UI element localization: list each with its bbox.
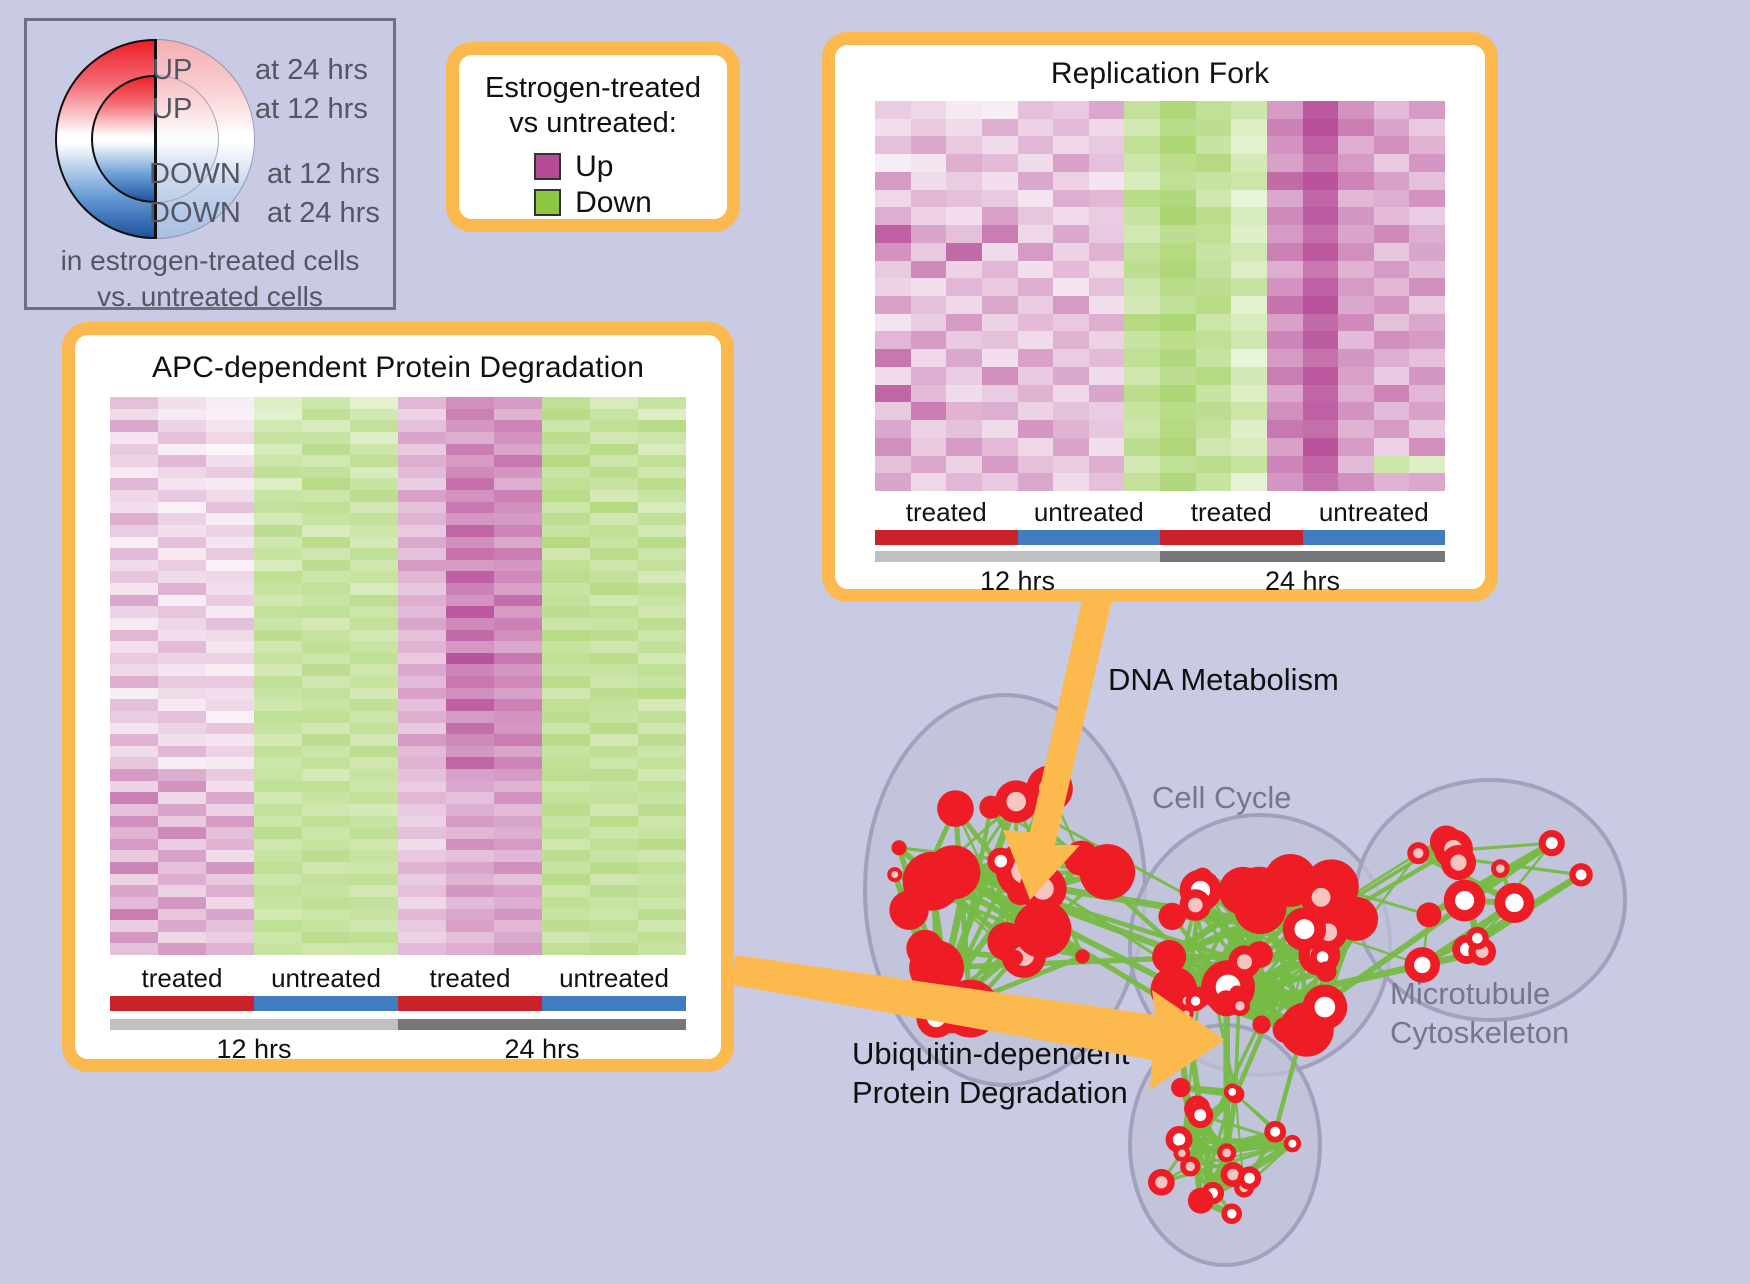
heatmap-cell bbox=[875, 136, 911, 154]
heatmap-cell bbox=[398, 595, 446, 607]
heatmap-cell bbox=[946, 385, 982, 403]
heatmap-cell bbox=[638, 699, 686, 711]
heatmap-cell bbox=[1089, 296, 1125, 314]
heatmap-cell bbox=[1303, 278, 1339, 296]
heatmap-time-label: 24 hrs bbox=[398, 1034, 686, 1065]
heatmap-cell bbox=[1267, 243, 1303, 261]
heatmap-cell bbox=[1124, 261, 1160, 279]
heatmap-cell bbox=[946, 101, 982, 119]
network-node[interactable] bbox=[1316, 961, 1337, 982]
heatmap-cell bbox=[1018, 367, 1054, 385]
heatmap-group-label: treated bbox=[398, 963, 542, 994]
heatmap-cell bbox=[1196, 261, 1232, 279]
heatmap-cell bbox=[398, 746, 446, 758]
heatmap-cell bbox=[1338, 172, 1374, 190]
heatmap-cell bbox=[590, 420, 638, 432]
heatmap-cell bbox=[542, 641, 590, 653]
heatmap-cell bbox=[1409, 101, 1445, 119]
heatmap-cell bbox=[1124, 278, 1160, 296]
heatmap-cell bbox=[254, 444, 302, 456]
network-node-core bbox=[1270, 1127, 1280, 1137]
legend-label-up: Up bbox=[575, 150, 613, 184]
heatmap-cell bbox=[1089, 190, 1125, 208]
heatmap-cell bbox=[254, 897, 302, 909]
heatmap-cell bbox=[1089, 243, 1125, 261]
heatmap-cell bbox=[1089, 473, 1125, 491]
heatmap-cell bbox=[494, 490, 542, 502]
network-node-core bbox=[1228, 1088, 1236, 1096]
heatmap-cell bbox=[1409, 456, 1445, 474]
heatmap-cell bbox=[446, 804, 494, 816]
heatmap-cell bbox=[1124, 331, 1160, 349]
apc-degradation-heatmap bbox=[110, 397, 686, 955]
heatmap-cell bbox=[494, 769, 542, 781]
heatmap-cell bbox=[638, 723, 686, 735]
heatmap-cell bbox=[638, 432, 686, 444]
heatmap-cell bbox=[542, 734, 590, 746]
heatmap-cell bbox=[1303, 136, 1339, 154]
heatmap-cell bbox=[1089, 456, 1125, 474]
heatmap-cell bbox=[590, 409, 638, 421]
heatmap-cell bbox=[1196, 456, 1232, 474]
heatmap-cell bbox=[1374, 207, 1410, 225]
network-node[interactable] bbox=[906, 930, 943, 967]
heatmap-cell bbox=[398, 850, 446, 862]
heatmap-cell bbox=[110, 502, 158, 514]
heatmap-cell bbox=[911, 136, 947, 154]
network-node[interactable] bbox=[1416, 902, 1441, 927]
heatmap-cell bbox=[110, 432, 158, 444]
heatmap-cell bbox=[1018, 296, 1054, 314]
heatmap-cell bbox=[158, 478, 206, 490]
heatmap-cell bbox=[875, 473, 911, 491]
heatmap-cell bbox=[875, 385, 911, 403]
heatmap-cell bbox=[1160, 456, 1196, 474]
heatmap-cell bbox=[206, 769, 254, 781]
heatmap-cell bbox=[110, 769, 158, 781]
condition-color-bar bbox=[1018, 530, 1161, 545]
heatmap-cell bbox=[1374, 367, 1410, 385]
heatmap-cell bbox=[206, 490, 254, 502]
heatmap-cell bbox=[302, 653, 350, 665]
heatmap-cell bbox=[302, 920, 350, 932]
network-node[interactable] bbox=[979, 796, 1002, 819]
heatmap-cell bbox=[350, 455, 398, 467]
heatmap-group-label: treated bbox=[1160, 497, 1303, 528]
heatmap-cell bbox=[302, 537, 350, 549]
heatmap-cell bbox=[398, 490, 446, 502]
heatmap-cell bbox=[638, 676, 686, 688]
heatmap-cell bbox=[946, 473, 982, 491]
heatmap-cell bbox=[110, 618, 158, 630]
apc-degradation-title: APC-dependent Protein Degradation bbox=[75, 335, 721, 385]
heatmap-cell bbox=[590, 862, 638, 874]
heatmap-cell bbox=[1089, 172, 1125, 190]
heatmap-cell bbox=[254, 560, 302, 572]
network-node-core bbox=[1155, 1176, 1167, 1188]
heatmap-cell bbox=[1231, 190, 1267, 208]
legend-gradient-circles: UP at 24 hrs UP at 12 hrs DOWN at 12 hrs… bbox=[24, 18, 396, 310]
heatmap-cell bbox=[158, 467, 206, 479]
heatmap-cell bbox=[1338, 136, 1374, 154]
heatmap-cell bbox=[1160, 402, 1196, 420]
heatmap-cell bbox=[638, 897, 686, 909]
heatmap-cell bbox=[398, 502, 446, 514]
network-node[interactable] bbox=[1007, 950, 1023, 966]
heatmap-cell bbox=[1267, 473, 1303, 491]
heatmap-cell bbox=[1053, 385, 1089, 403]
heatmap-cell bbox=[254, 757, 302, 769]
heatmap-cell bbox=[494, 885, 542, 897]
heatmap-cell bbox=[1338, 296, 1374, 314]
heatmap-cell bbox=[494, 874, 542, 886]
heatmap-cell bbox=[302, 932, 350, 944]
heatmap-cell bbox=[398, 513, 446, 525]
heatmap-cell bbox=[946, 349, 982, 367]
heatmap-cell bbox=[1303, 243, 1339, 261]
heatmap-cell bbox=[254, 606, 302, 618]
network-node[interactable] bbox=[903, 852, 962, 911]
heatmap-cell bbox=[110, 397, 158, 409]
heatmap-cell bbox=[446, 432, 494, 444]
heatmap-cell bbox=[1267, 296, 1303, 314]
heatmap-cell bbox=[398, 444, 446, 456]
network-node-core bbox=[1244, 1173, 1255, 1184]
heatmap-cell bbox=[110, 571, 158, 583]
heatmap-cell bbox=[1196, 296, 1232, 314]
heatmap-cell bbox=[206, 676, 254, 688]
heatmap-cell bbox=[542, 874, 590, 886]
microtubule-label-line1: Microtubule bbox=[1390, 975, 1569, 1014]
heatmap-cell bbox=[1409, 349, 1445, 367]
heatmap-cell bbox=[1409, 314, 1445, 332]
heatmap-cell bbox=[1089, 349, 1125, 367]
heatmap-cell bbox=[590, 606, 638, 618]
heatmap-cell bbox=[638, 769, 686, 781]
heatmap-cell bbox=[1018, 119, 1054, 137]
heatmap-cell bbox=[1374, 456, 1410, 474]
heatmap-cell bbox=[494, 943, 542, 955]
heatmap-cell bbox=[350, 653, 398, 665]
heatmap-cell bbox=[1374, 314, 1410, 332]
heatmap-cell bbox=[542, 513, 590, 525]
heatmap-cell bbox=[1338, 261, 1374, 279]
heatmap-cell bbox=[638, 478, 686, 490]
heatmap-cell bbox=[590, 537, 638, 549]
heatmap-cell bbox=[302, 676, 350, 688]
heatmap-cell bbox=[911, 367, 947, 385]
heatmap-cell bbox=[398, 909, 446, 921]
heatmap-cell bbox=[398, 897, 446, 909]
ubiquitin-label-line2: Protein Degradation bbox=[852, 1074, 1130, 1113]
heatmap-cell bbox=[350, 711, 398, 723]
heatmap-cell bbox=[542, 850, 590, 862]
heatmap-cell bbox=[206, 688, 254, 700]
cluster-label-ubiquitin-degradation: Ubiquitin-dependent Protein Degradation bbox=[852, 1035, 1130, 1113]
heatmap-cell bbox=[875, 331, 911, 349]
network-node[interactable] bbox=[1252, 1015, 1270, 1033]
heatmap-cell bbox=[1374, 261, 1410, 279]
heatmap-cell bbox=[494, 734, 542, 746]
heatmap-cell bbox=[302, 688, 350, 700]
heatmap-cell bbox=[911, 101, 947, 119]
heatmap-cell bbox=[494, 932, 542, 944]
heatmap-cell bbox=[1053, 154, 1089, 172]
heatmap-cell bbox=[1053, 420, 1089, 438]
heatmap-cell bbox=[494, 711, 542, 723]
heatmap-cell bbox=[158, 769, 206, 781]
heatmap-cell bbox=[1303, 190, 1339, 208]
time-color-bar bbox=[110, 1019, 398, 1030]
network-node-core bbox=[1191, 996, 1200, 1005]
heatmap-cell bbox=[1124, 101, 1160, 119]
heatmap-cell bbox=[350, 420, 398, 432]
legend-note: in estrogen-treated cells vs. untreated … bbox=[27, 243, 393, 315]
heatmap-cell bbox=[638, 502, 686, 514]
heatmap-cell bbox=[1303, 314, 1339, 332]
heatmap-cell bbox=[158, 537, 206, 549]
heatmap-cell bbox=[158, 932, 206, 944]
heatmap-cell bbox=[590, 548, 638, 560]
heatmap-cell bbox=[1196, 420, 1232, 438]
heatmap-cell bbox=[158, 734, 206, 746]
heatmap-cell bbox=[1089, 225, 1125, 243]
network-node-core bbox=[1032, 878, 1054, 900]
heatmap-cell bbox=[110, 850, 158, 862]
heatmap-cell bbox=[1409, 225, 1445, 243]
condition-color-bar bbox=[254, 996, 398, 1011]
heatmap-cell bbox=[1231, 278, 1267, 296]
heatmap-cell bbox=[911, 278, 947, 296]
heatmap-cell bbox=[1053, 296, 1089, 314]
heatmap-cell bbox=[542, 548, 590, 560]
heatmap-cell bbox=[946, 136, 982, 154]
heatmap-cell bbox=[350, 816, 398, 828]
heatmap-cell bbox=[110, 897, 158, 909]
heatmap-cell bbox=[590, 595, 638, 607]
heatmap-cell bbox=[1338, 154, 1374, 172]
heatmap-cell bbox=[1089, 331, 1125, 349]
heatmap-cell bbox=[1018, 349, 1054, 367]
heatmap-cell bbox=[398, 723, 446, 735]
heatmap-cell bbox=[1196, 243, 1232, 261]
heatmap-cell bbox=[158, 885, 206, 897]
heatmap-cell bbox=[638, 757, 686, 769]
heatmap-cell bbox=[638, 932, 686, 944]
heatmap-cell bbox=[1374, 136, 1410, 154]
heatmap-cell bbox=[1053, 473, 1089, 491]
heatmap-cell bbox=[254, 862, 302, 874]
heatmap-cell bbox=[350, 444, 398, 456]
heatmap-cell bbox=[982, 296, 1018, 314]
heatmap-cell bbox=[982, 456, 1018, 474]
heatmap-cell bbox=[911, 261, 947, 279]
heatmap-cell bbox=[1124, 172, 1160, 190]
heatmap-cell bbox=[158, 641, 206, 653]
heatmap-cell bbox=[494, 432, 542, 444]
heatmap-cell bbox=[446, 525, 494, 537]
heatmap-cell bbox=[1053, 190, 1089, 208]
network-node-core bbox=[1227, 1209, 1237, 1219]
heatmap-cell bbox=[110, 723, 158, 735]
heatmap-cell bbox=[494, 676, 542, 688]
heatmap-cell bbox=[206, 850, 254, 862]
heatmap-cell bbox=[254, 490, 302, 502]
network-node[interactable] bbox=[1158, 903, 1185, 930]
heatmap-cell bbox=[1089, 261, 1125, 279]
heatmap-cell bbox=[542, 583, 590, 595]
heatmap-cell bbox=[1089, 154, 1125, 172]
heatmap-cell bbox=[302, 862, 350, 874]
heatmap-cell bbox=[590, 769, 638, 781]
heatmap-cell bbox=[638, 792, 686, 804]
heatmap-cell bbox=[638, 606, 686, 618]
heatmap-cell bbox=[206, 618, 254, 630]
heatmap-cell bbox=[1338, 438, 1374, 456]
heatmap-cell bbox=[206, 792, 254, 804]
heatmap-cell bbox=[875, 402, 911, 420]
heatmap-cell bbox=[350, 606, 398, 618]
heatmap-cell bbox=[1160, 172, 1196, 190]
heatmap-cell bbox=[158, 490, 206, 502]
heatmap-cell bbox=[1338, 190, 1374, 208]
heatmap-cell bbox=[1160, 119, 1196, 137]
heatmap-cell bbox=[350, 467, 398, 479]
heatmap-cell bbox=[350, 781, 398, 793]
heatmap-cell bbox=[446, 943, 494, 955]
heatmap-cell bbox=[302, 630, 350, 642]
heatmap-cell bbox=[982, 278, 1018, 296]
heatmap-cell bbox=[350, 502, 398, 514]
heatmap-cell bbox=[158, 839, 206, 851]
heatmap-cell bbox=[254, 455, 302, 467]
heatmap-cell bbox=[446, 676, 494, 688]
heatmap-cell bbox=[1089, 136, 1125, 154]
heatmap-cell bbox=[494, 548, 542, 560]
heatmap-cell bbox=[254, 885, 302, 897]
heatmap-cell bbox=[542, 781, 590, 793]
heatmap-cell bbox=[206, 595, 254, 607]
heatmap-cell bbox=[590, 397, 638, 409]
heatmap-cell bbox=[350, 757, 398, 769]
heatmap-cell bbox=[946, 119, 982, 137]
heatmap-cell bbox=[542, 792, 590, 804]
heatmap-cell bbox=[542, 804, 590, 816]
legend-up-down-card: Estrogen-treated vs untreated: Up Down bbox=[446, 42, 740, 232]
heatmap-cell bbox=[1018, 473, 1054, 491]
network-node-core bbox=[1288, 1140, 1296, 1148]
heatmap-cell bbox=[1089, 119, 1125, 137]
heatmap-cell bbox=[446, 583, 494, 595]
heatmap-cell bbox=[398, 781, 446, 793]
heatmap-cell bbox=[110, 548, 158, 560]
replication-fork-card: Replication Fork treateduntreatedtreated… bbox=[822, 32, 1498, 602]
heatmap-cell bbox=[1231, 154, 1267, 172]
heatmap-cell bbox=[542, 478, 590, 490]
heatmap-cell bbox=[542, 560, 590, 572]
heatmap-group-label: untreated bbox=[1018, 497, 1161, 528]
heatmap-cell bbox=[110, 641, 158, 653]
network-node[interactable] bbox=[1171, 1078, 1190, 1097]
heatmap-cell bbox=[1160, 243, 1196, 261]
heatmap-cell bbox=[158, 571, 206, 583]
heatmap-cell bbox=[1231, 420, 1267, 438]
network-node[interactable] bbox=[1219, 867, 1267, 915]
heatmap-cell bbox=[542, 653, 590, 665]
heatmap-cell bbox=[1338, 225, 1374, 243]
heatmap-cell bbox=[110, 478, 158, 490]
heatmap-cell bbox=[946, 261, 982, 279]
legend-up-down-title: Estrogen-treated vs untreated: bbox=[459, 71, 727, 142]
cluster-label-dna-metabolism: DNA Metabolism bbox=[1108, 662, 1339, 698]
heatmap-cell bbox=[110, 409, 158, 421]
heatmap-cell bbox=[1267, 420, 1303, 438]
network-node[interactable] bbox=[1080, 844, 1136, 900]
heatmap-cell bbox=[206, 420, 254, 432]
heatmap-cell bbox=[1124, 154, 1160, 172]
heatmap-cell bbox=[1303, 456, 1339, 474]
heatmap-time-label: 12 hrs bbox=[875, 566, 1160, 597]
heatmap-cell bbox=[638, 409, 686, 421]
ubiquitin-label-line1: Ubiquitin-dependent bbox=[852, 1035, 1130, 1074]
heatmap-cell bbox=[911, 456, 947, 474]
heatmap-cell bbox=[542, 630, 590, 642]
heatmap-cell bbox=[1409, 473, 1445, 491]
heatmap-cell bbox=[542, 769, 590, 781]
heatmap-cell bbox=[398, 943, 446, 955]
heatmap-cell bbox=[494, 455, 542, 467]
network-node[interactable] bbox=[1188, 1188, 1214, 1214]
heatmap-cell bbox=[1231, 119, 1267, 137]
heatmap-cell bbox=[302, 420, 350, 432]
heatmap-cell bbox=[1196, 402, 1232, 420]
heatmap-cell bbox=[398, 455, 446, 467]
heatmap-cell bbox=[638, 862, 686, 874]
heatmap-cell bbox=[911, 207, 947, 225]
network-node-core bbox=[1173, 1133, 1185, 1145]
network-node[interactable] bbox=[1152, 940, 1186, 974]
heatmap-cell bbox=[542, 537, 590, 549]
heatmap-cell bbox=[1374, 331, 1410, 349]
heatmap-cell bbox=[1374, 225, 1410, 243]
heatmap-cell bbox=[1160, 349, 1196, 367]
heatmap-cell bbox=[254, 618, 302, 630]
heatmap-cell bbox=[494, 839, 542, 851]
heatmap-cell bbox=[1196, 101, 1232, 119]
heatmap-cell bbox=[1303, 349, 1339, 367]
heatmap-cell bbox=[110, 560, 158, 572]
heatmap-cell bbox=[350, 920, 398, 932]
heatmap-cell bbox=[350, 897, 398, 909]
network-node[interactable] bbox=[1075, 949, 1089, 963]
heatmap-cell bbox=[350, 664, 398, 676]
heatmap-cell bbox=[875, 190, 911, 208]
heatmap-cell bbox=[638, 630, 686, 642]
heatmap-cell bbox=[110, 932, 158, 944]
network-node-core bbox=[1312, 888, 1331, 907]
network-node[interactable] bbox=[937, 790, 974, 827]
heatmap-cell bbox=[446, 932, 494, 944]
heatmap-cell bbox=[110, 513, 158, 525]
heatmap-cell bbox=[911, 314, 947, 332]
heatmap-cell bbox=[542, 711, 590, 723]
network-node[interactable] bbox=[1229, 985, 1244, 1000]
heatmap-cell bbox=[638, 839, 686, 851]
heatmap-cell bbox=[982, 473, 1018, 491]
heatmap-cell bbox=[1053, 225, 1089, 243]
network-node[interactable] bbox=[892, 840, 907, 855]
heatmap-cell bbox=[982, 243, 1018, 261]
